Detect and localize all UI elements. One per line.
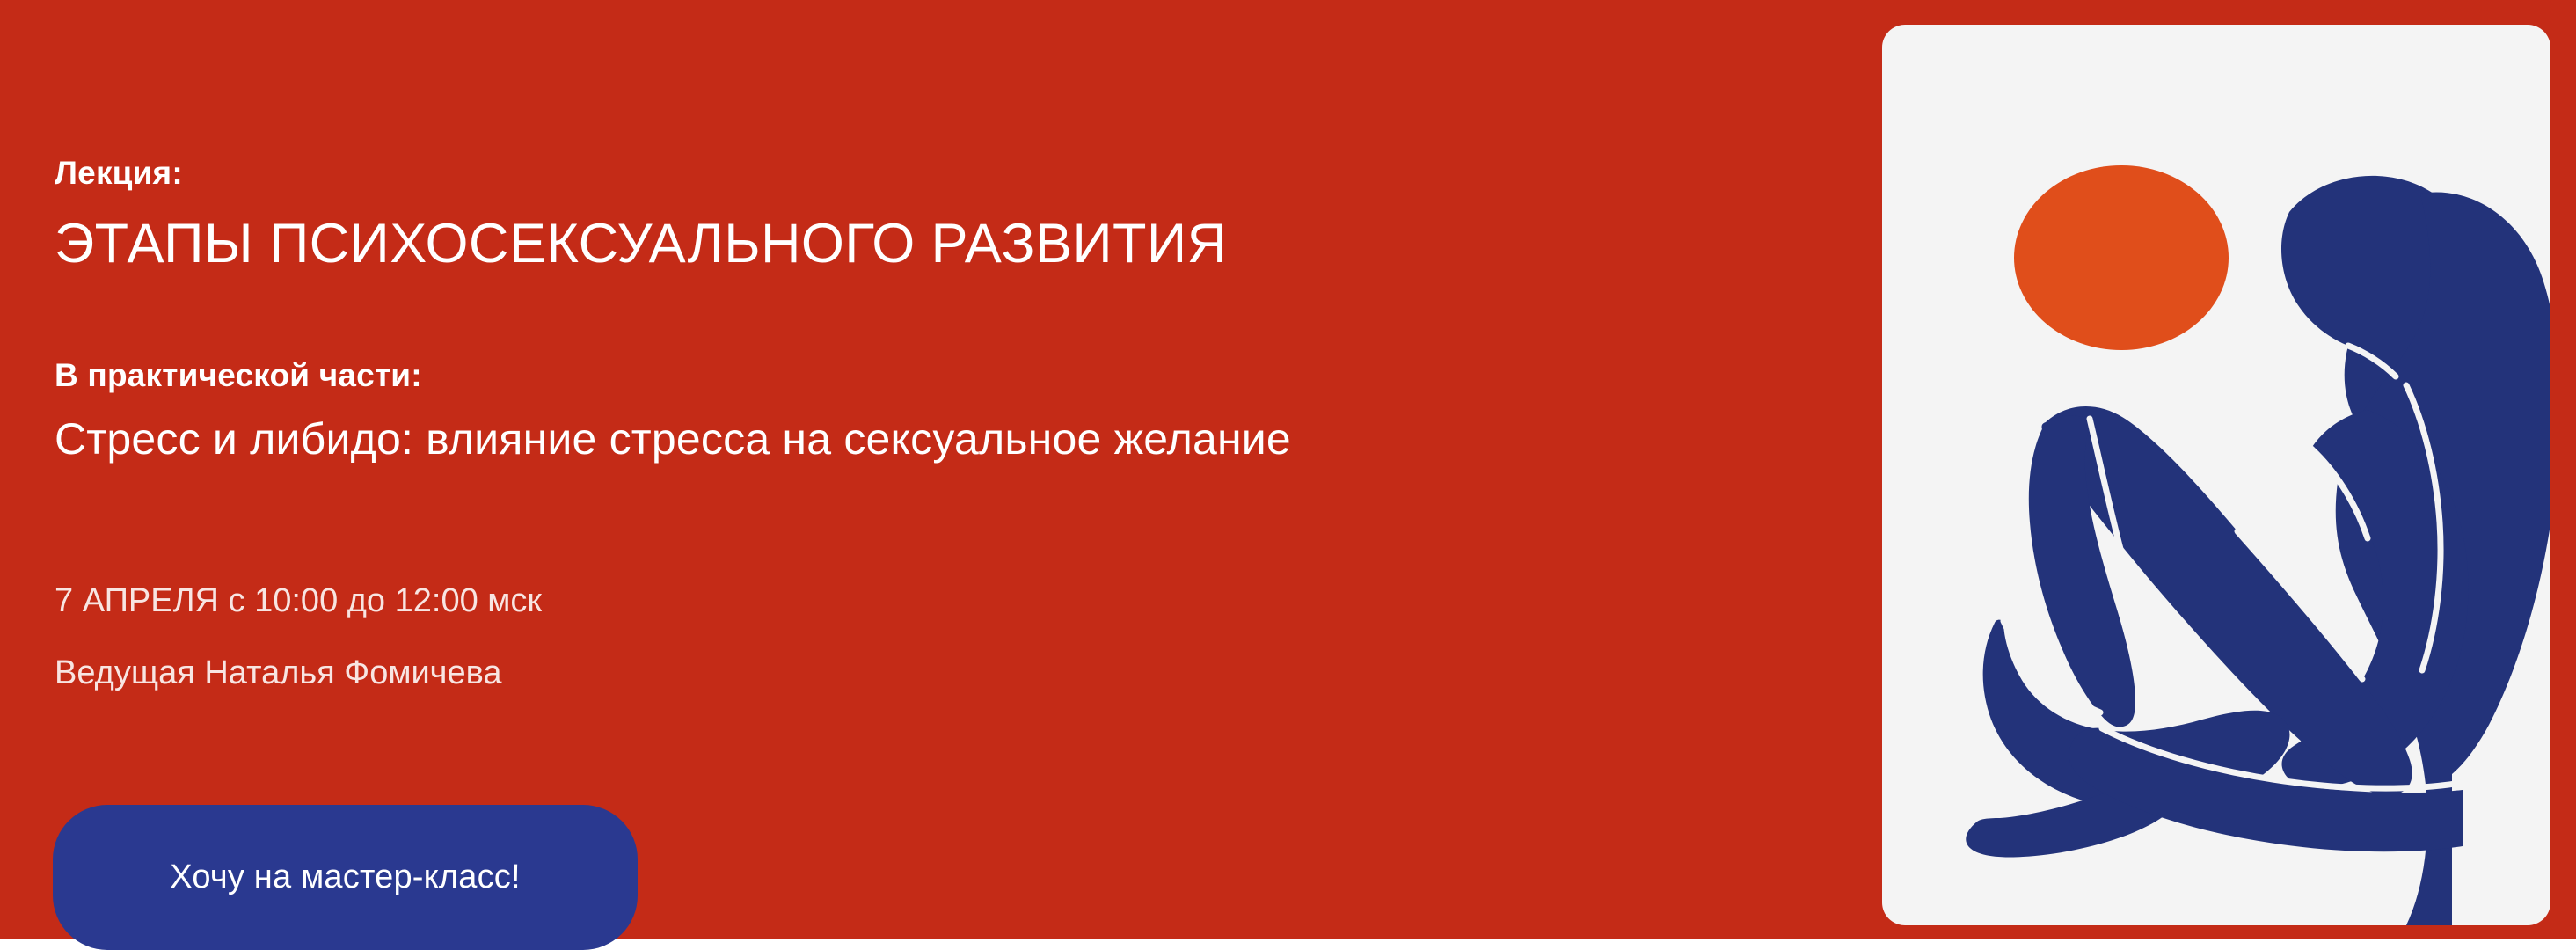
lecture-eyebrow: Лекция: bbox=[55, 155, 183, 192]
illustration-card bbox=[1882, 25, 2550, 925]
practical-part-title: Стресс и либидо: влияние стресса на секс… bbox=[55, 415, 1291, 464]
event-date-time: 7 АПРЕЛЯ с 10:00 до 12:00 мск bbox=[55, 582, 542, 620]
practical-part-eyebrow: В практической части: bbox=[55, 357, 422, 394]
orange-circle-icon bbox=[2014, 165, 2229, 350]
page-title: ЭТАПЫ ПСИХОСЕКСУАЛЬНОГО РАЗВИТИЯ bbox=[55, 215, 1227, 273]
event-host: Ведущая Наталья Фомичева bbox=[55, 654, 502, 692]
join-masterclass-button[interactable]: Хочу на мастер-класс! bbox=[53, 805, 638, 950]
promo-banner: Лекция: ЭТАПЫ ПСИХОСЕКСУАЛЬНОГО РАЗВИТИЯ… bbox=[0, 0, 2576, 950]
seated-figure-illustration bbox=[1882, 25, 2550, 925]
